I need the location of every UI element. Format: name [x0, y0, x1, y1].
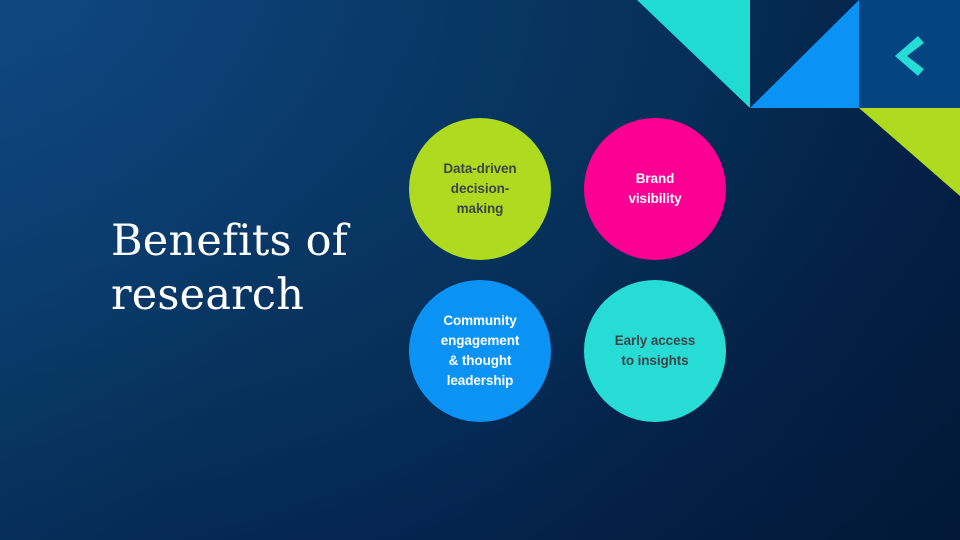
benefit-label: Community engagement & thought leadershi…	[441, 311, 520, 391]
chevron-left-icon	[884, 32, 926, 80]
benefit-label: Brand visibility	[628, 169, 681, 209]
benefit-circle-data-driven-decision-making[interactable]: Data-driven decision- making	[409, 118, 551, 260]
benefit-label: Data-driven decision- making	[443, 159, 516, 219]
page-title: Benefits of research	[111, 214, 391, 322]
benefit-circle-group: Data-driven decision- making Brand visib…	[409, 118, 726, 422]
benefit-circle-brand-visibility[interactable]: Brand visibility	[584, 118, 726, 260]
benefit-circle-community-engagement[interactable]: Community engagement & thought leadershi…	[409, 280, 551, 422]
presentation-slide: Benefits of research Data-driven decisio…	[0, 0, 960, 540]
benefit-circle-early-access-to-insights[interactable]: Early access to insights	[584, 280, 726, 422]
benefit-label: Early access to insights	[615, 331, 696, 371]
